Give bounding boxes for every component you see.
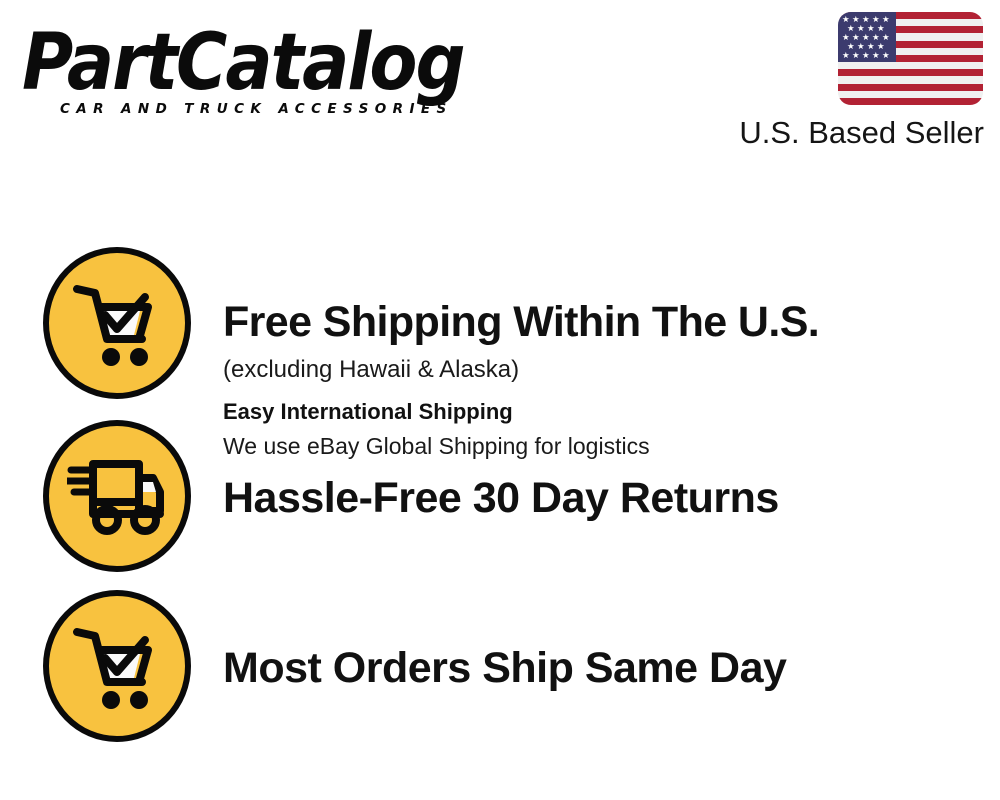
- feature-headline: Most Orders Ship Same Day: [223, 642, 983, 694]
- feature-subline: (excluding Hawaii & Alaska): [223, 353, 983, 387]
- delivery-truck-icon: [43, 420, 191, 572]
- shopping-cart-check-icon: [43, 247, 191, 399]
- brand-logo: PartCatalog CAR AND TRUCK ACCESSORIES: [22, 22, 492, 94]
- logo-wordmark: PartCatalog: [22, 22, 492, 103]
- flag-canton: ★ ★ ★ ★ ★ ★ ★ ★ ★ ★ ★ ★ ★ ★ ★ ★ ★ ★ ★ ★: [838, 12, 896, 62]
- logo-tagline: CAR AND TRUCK ACCESSORIES: [60, 101, 453, 117]
- shopping-cart-check-icon: [43, 590, 191, 742]
- banner-header: PartCatalog CAR AND TRUCK ACCESSORIES ★ …: [0, 0, 1000, 175]
- feature-row: Hassle-Free 30 Day Returns: [0, 420, 1000, 588]
- us-flag-icon: ★ ★ ★ ★ ★ ★ ★ ★ ★ ★ ★ ★ ★ ★ ★ ★ ★ ★ ★ ★: [838, 12, 983, 105]
- feature-row: Free Shipping Within The U.S. (excluding…: [0, 247, 1000, 417]
- seller-location-label: U.S. Based Seller: [739, 113, 984, 153]
- feature-headline: Free Shipping Within The U.S.: [223, 297, 983, 347]
- feature-text-block: Most Orders Ship Same Day: [223, 642, 983, 694]
- feature-text-block: Hassle-Free 30 Day Returns: [223, 472, 983, 524]
- feature-headline: Hassle-Free 30 Day Returns: [223, 472, 983, 524]
- feature-row: Most Orders Ship Same Day: [0, 590, 1000, 758]
- us-flag-badge: ★ ★ ★ ★ ★ ★ ★ ★ ★ ★ ★ ★ ★ ★ ★ ★ ★ ★ ★ ★: [838, 12, 983, 105]
